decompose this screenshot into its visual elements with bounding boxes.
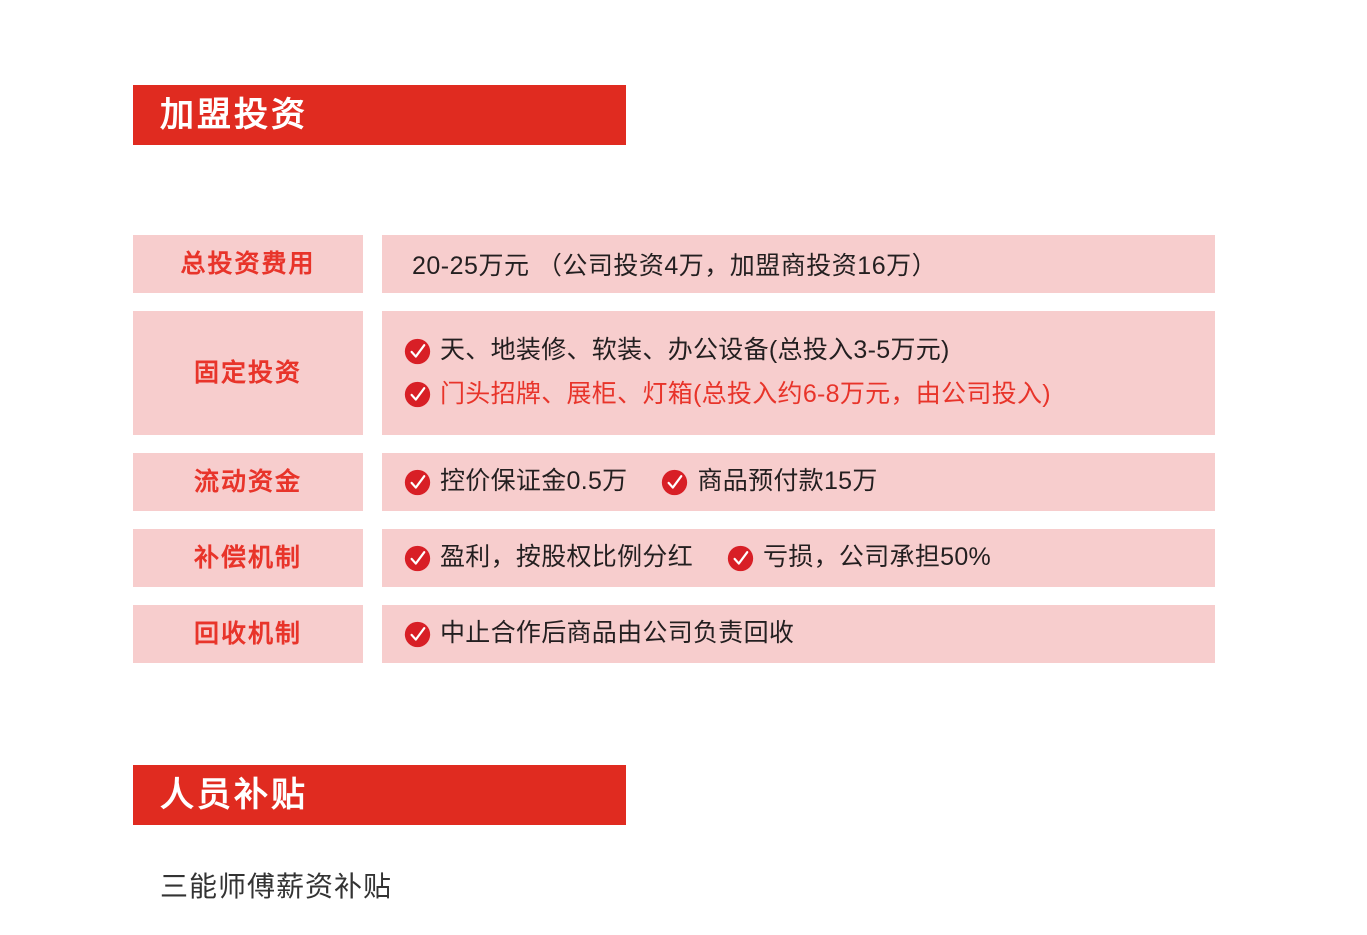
row-content-cell: 控价保证金0.5万 商品预付款15万 [382, 453, 1215, 511]
row-label-cell: 流动资金 [133, 453, 363, 511]
row-label-text: 补偿机制 [194, 543, 302, 573]
bullet-line: 天、地装修、软装、办公设备(总投入3-5万元) [404, 334, 1215, 368]
bullet-text: 盈利，按股权比例分红 [440, 541, 693, 575]
check-circle-icon [404, 621, 431, 648]
row-content-cell: 盈利，按股权比例分红 亏损，公司承担50% [382, 529, 1215, 587]
bullet-line: 门头招牌、展柜、灯箱(总投入约6-8万元，由公司投入) [404, 378, 1215, 412]
row-content-cell: 20-25万元 （公司投资4万，加盟商投资16万） [382, 235, 1215, 293]
bullet-line: 控价保证金0.5万 商品预付款15万 [404, 465, 1215, 499]
row-label-text: 总投资费用 [180, 249, 315, 279]
section-banner-staff-subsidy: 人员补贴 [133, 765, 626, 825]
table-row: 补偿机制 盈利，按股权比例分红 [133, 529, 1215, 587]
row-label-cell: 总投资费用 [133, 235, 363, 293]
table-row: 流动资金 控价保证金0.5万 [133, 453, 1215, 511]
bullet-text: 亏损，公司承担50% [763, 541, 991, 575]
row-content-text: 20-25万元 （公司投资4万，加盟商投资16万） [404, 246, 1215, 282]
row-label-cell: 补偿机制 [133, 529, 363, 587]
section-banner-investment: 加盟投资 [133, 85, 626, 145]
row-label-text: 回收机制 [194, 619, 302, 649]
table-row: 固定投资 天、地装修、软装、办公设备(总投入3-5万元) [133, 311, 1215, 435]
check-circle-icon [404, 469, 431, 496]
row-label-cell: 固定投资 [133, 311, 363, 435]
bullet-text: 中止合作后商品由公司负责回收 [440, 617, 794, 651]
row-label-text: 固定投资 [194, 358, 302, 388]
bullet-text: 商品预付款15万 [697, 465, 877, 499]
check-circle-icon [404, 381, 431, 408]
check-circle-icon [727, 545, 754, 572]
bullet-text: 控价保证金0.5万 [440, 465, 627, 499]
row-label-text: 流动资金 [194, 467, 302, 497]
check-circle-icon [661, 469, 688, 496]
bullet-text: 天、地装修、软装、办公设备(总投入3-5万元) [440, 334, 950, 368]
row-content-cell: 天、地装修、软装、办公设备(总投入3-5万元) 门头招牌、展柜、灯箱(总投入约6… [382, 311, 1215, 435]
check-circle-icon [404, 338, 431, 365]
table-row: 回收机制 中止合作后商品由公司负责回收 [133, 605, 1215, 663]
page-root: 加盟投资 总投资费用 20-25万元 （公司投资4万，加盟商投资16万） 固定投… [0, 0, 1367, 935]
bullet-line: 中止合作后商品由公司负责回收 [404, 617, 1215, 651]
section-title-staff-subsidy: 人员补贴 [133, 778, 308, 812]
check-circle-icon [404, 545, 431, 572]
section-title-investment: 加盟投资 [133, 98, 308, 132]
staff-subsidy-note: 三能师傅薪资补贴 [160, 865, 392, 905]
bullet-line: 盈利，按股权比例分红 亏损，公司承担50% [404, 541, 1215, 575]
bullet-text: 门头招牌、展柜、灯箱(总投入约6-8万元，由公司投入) [440, 378, 1051, 412]
investment-table: 总投资费用 20-25万元 （公司投资4万，加盟商投资16万） 固定投资 [133, 235, 1215, 681]
row-label-cell: 回收机制 [133, 605, 363, 663]
table-row: 总投资费用 20-25万元 （公司投资4万，加盟商投资16万） [133, 235, 1215, 293]
row-content-cell: 中止合作后商品由公司负责回收 [382, 605, 1215, 663]
